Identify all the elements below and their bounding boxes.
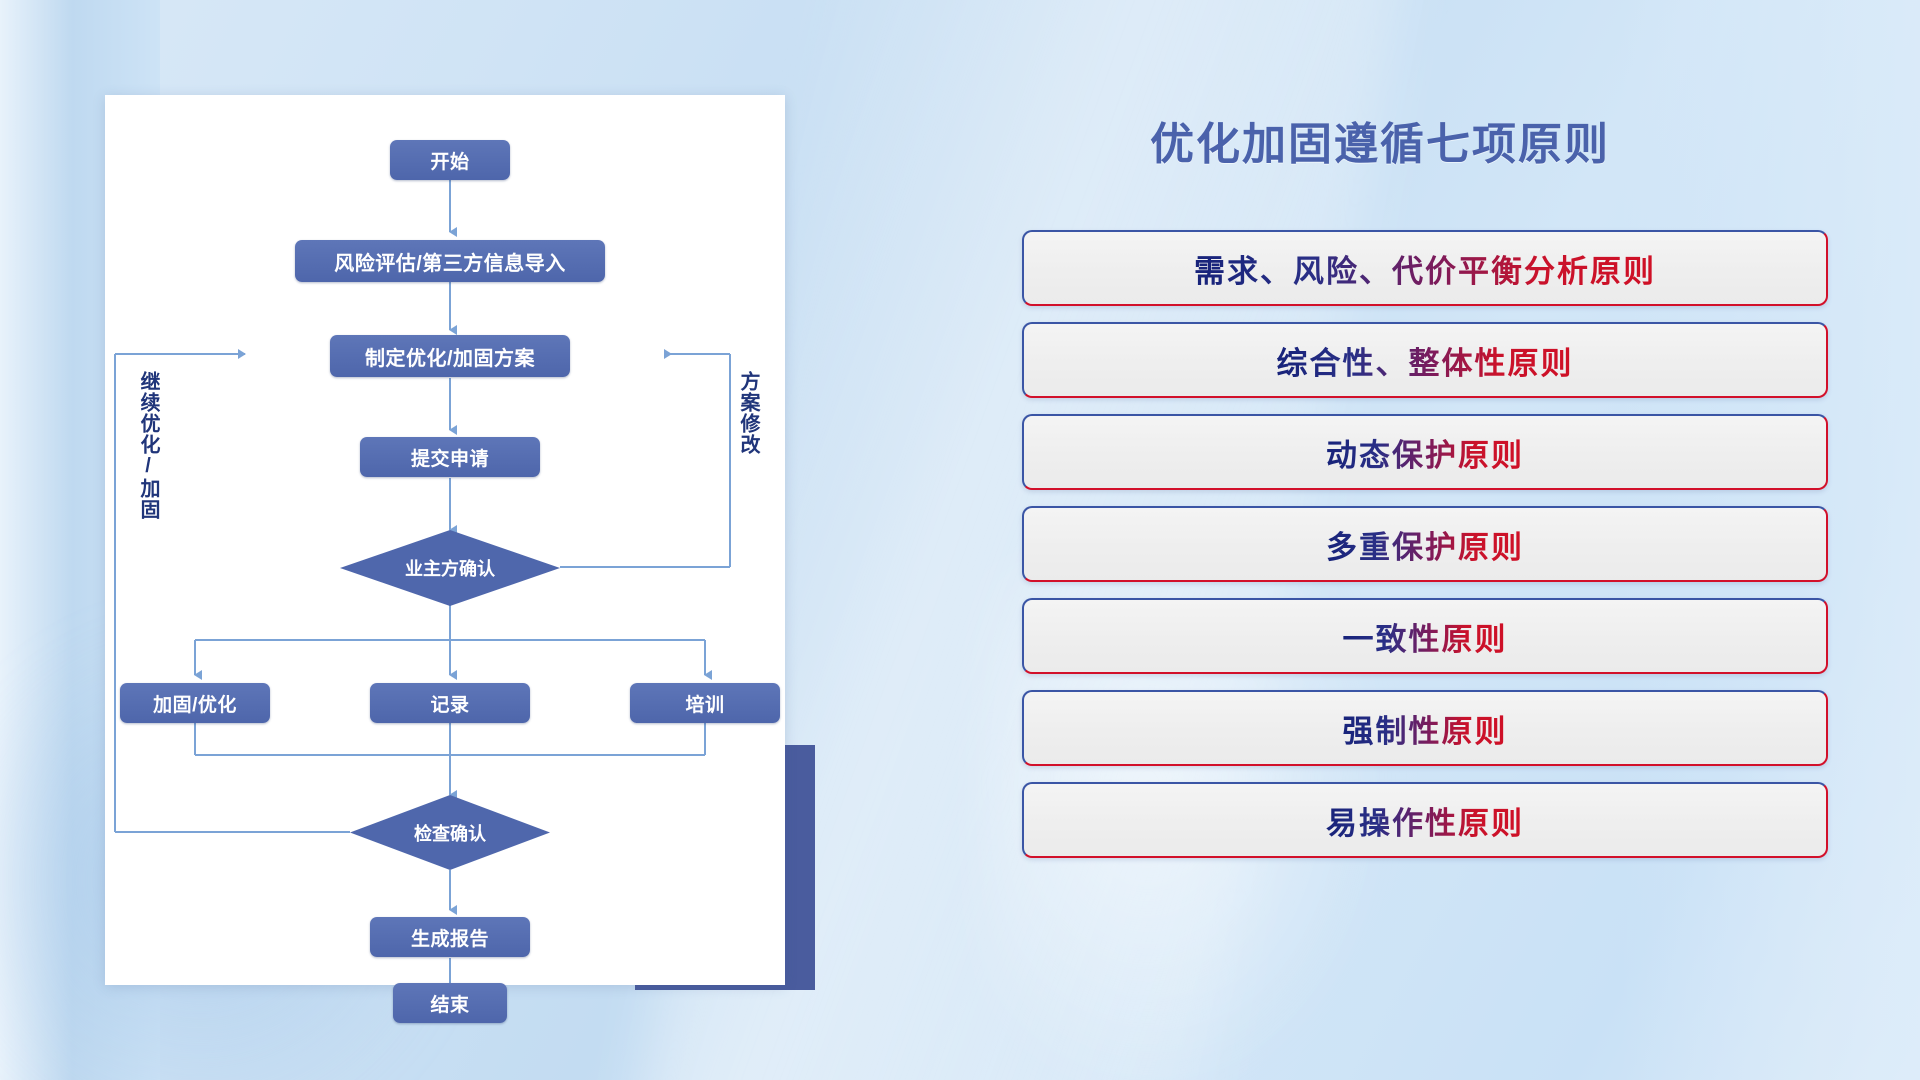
flow-node-label: 制定优化/加固方案 bbox=[365, 342, 535, 371]
principle-item[interactable]: 多重保护原则 bbox=[1022, 506, 1828, 582]
flow-edge-label-continue-optimize: 继续优化/加固 bbox=[137, 371, 158, 520]
flow-node-label: 记录 bbox=[430, 690, 469, 717]
flow-node-label: 业主方确认 bbox=[405, 555, 495, 581]
flow-node-submit-application[interactable]: 提交申请 bbox=[360, 437, 540, 477]
principle-item[interactable]: 综合性、整体性原则 bbox=[1022, 322, 1828, 398]
page-title: 优化加固遵循七项原则 bbox=[1150, 108, 1610, 172]
principle-label: 动态保护原则 bbox=[1326, 430, 1524, 475]
principle-item[interactable]: 易操作性原则 bbox=[1022, 782, 1828, 858]
principle-item[interactable]: 一致性原则 bbox=[1022, 598, 1828, 674]
flow-node-label: 培训 bbox=[685, 690, 724, 717]
flow-node-label: 提交申请 bbox=[411, 444, 489, 471]
principle-label: 综合性、整体性原则 bbox=[1277, 338, 1574, 383]
principle-label: 一致性原则 bbox=[1343, 614, 1508, 659]
flow-node-reinforce[interactable]: 加固/优化 bbox=[120, 683, 270, 723]
flow-node-start[interactable]: 开始 bbox=[390, 140, 510, 180]
principle-item[interactable]: 需求、风险、代价平衡分析原则 bbox=[1022, 230, 1828, 306]
flow-node-label: 风险评估/第三方信息导入 bbox=[334, 247, 566, 276]
flow-node-generate-report[interactable]: 生成报告 bbox=[370, 917, 530, 957]
flow-node-training[interactable]: 培训 bbox=[630, 683, 780, 723]
principle-label: 易操作性原则 bbox=[1326, 798, 1524, 843]
flow-edge-label-plan-revision: 方案修改 bbox=[737, 371, 758, 455]
principle-item[interactable]: 强制性原则 bbox=[1022, 690, 1828, 766]
principle-label: 需求、风险、代价平衡分析原则 bbox=[1194, 246, 1656, 291]
flow-node-label: 加固/优化 bbox=[153, 690, 237, 717]
principle-label: 多重保护原则 bbox=[1326, 522, 1524, 567]
flow-node-label: 检查确认 bbox=[414, 820, 486, 846]
flowchart-card: 开始 风险评估/第三方信息导入 制定优化/加固方案 提交申请 业主方确认 加固/… bbox=[105, 95, 785, 985]
flow-node-label: 生成报告 bbox=[411, 924, 489, 951]
flow-node-label: 开始 bbox=[430, 147, 469, 174]
principle-label: 强制性原则 bbox=[1343, 706, 1508, 751]
flow-node-end[interactable]: 结束 bbox=[393, 983, 507, 1023]
principle-item[interactable]: 动态保护原则 bbox=[1022, 414, 1828, 490]
flow-node-plan[interactable]: 制定优化/加固方案 bbox=[330, 335, 570, 377]
flow-node-risk-assessment[interactable]: 风险评估/第三方信息导入 bbox=[295, 240, 605, 282]
principles-list: 需求、风险、代价平衡分析原则 综合性、整体性原则 动态保护原则 多重保护原则 一… bbox=[1022, 230, 1828, 874]
flow-node-record[interactable]: 记录 bbox=[370, 683, 530, 723]
flow-node-label: 结束 bbox=[430, 990, 469, 1017]
